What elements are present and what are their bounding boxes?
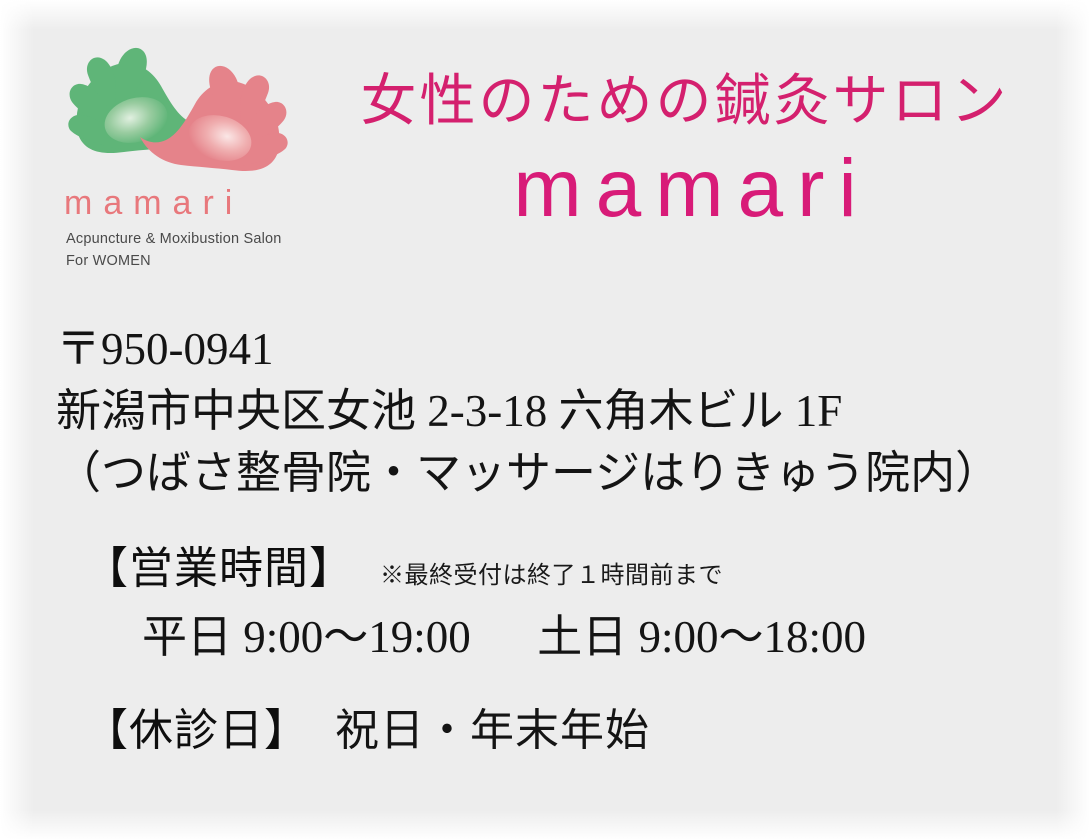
inside-building-note: （つばさ整骨院・マッサージはりきゅう院内）: [0, 442, 1090, 504]
logo-wordmark: mamari: [64, 186, 308, 222]
mamari-hands-logo-icon: [62, 42, 294, 182]
logo-subtitle-line2: For WOMEN: [66, 250, 308, 272]
header-section: mamari Acpuncture & Moxibustion Salon Fo…: [0, 0, 1090, 310]
brand-name: mamari: [300, 146, 1070, 232]
weekend-hours: 土日 9:00〜18:00: [537, 612, 866, 662]
business-hours-block: 【営業時間】 ※最終受付は終了１時間前まで 平日 9:00〜19:00 土日 9…: [0, 540, 1090, 670]
weekday-hours: 平日 9:00〜19:00: [142, 612, 471, 662]
business-hours-header: 【営業時間】 ※最終受付は終了１時間前まで: [84, 540, 1090, 598]
title-block: 女性のための鍼灸サロン mamari: [300, 70, 1070, 232]
logo-subtitle: Acpuncture & Moxibustion Salon For WOMEN: [66, 228, 308, 273]
info-section: 〒950-0941 新潟市中央区女池 2-3-18 六角木ビル 1F （つばさ整…: [0, 318, 1090, 760]
shop-info-card: mamari Acpuncture & Moxibustion Salon Fo…: [0, 0, 1090, 840]
business-hours-label: 【営業時間】: [84, 540, 354, 598]
logo-block: mamari Acpuncture & Moxibustion Salon Fo…: [58, 42, 308, 273]
logo-subtitle-line1: Acpuncture & Moxibustion Salon: [66, 228, 308, 250]
business-hours-times: 平日 9:00〜19:00 土日 9:00〜18:00: [84, 604, 1090, 670]
tagline: 女性のための鍼灸サロン: [300, 70, 1070, 134]
street-address: 新潟市中央区女池 2-3-18 六角木ビル 1F: [0, 380, 1090, 442]
last-reception-note: ※最終受付は終了１時間前まで: [380, 555, 723, 590]
closed-days-label: 【休診日】: [84, 702, 309, 760]
closed-days-block: 【休診日】 祝日・年末年始: [0, 702, 1090, 760]
closed-days-value: 祝日・年末年始: [335, 702, 650, 760]
postal-code: 〒950-0941: [0, 318, 1090, 380]
